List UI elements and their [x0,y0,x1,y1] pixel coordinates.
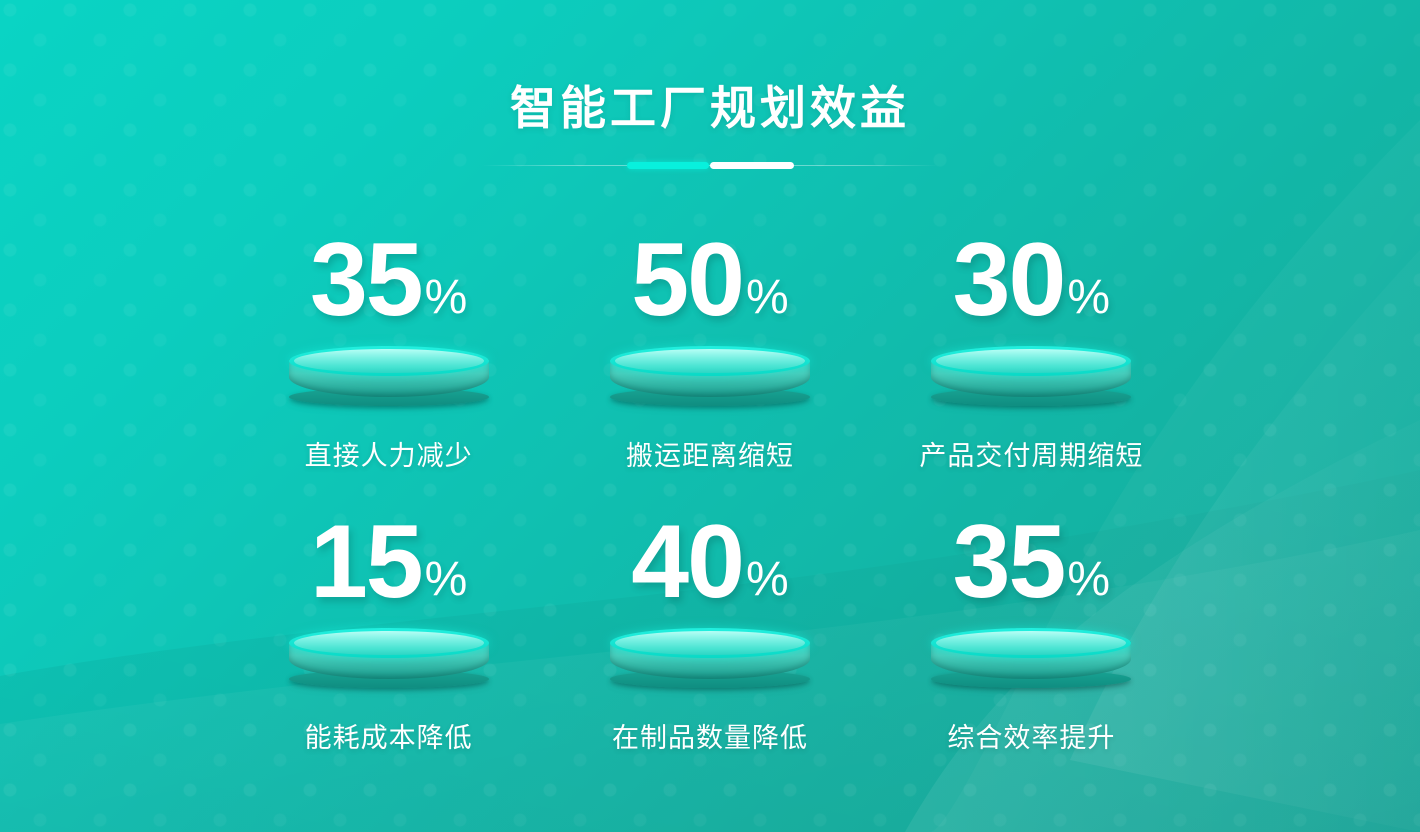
stat-unit: % [425,556,468,604]
stat-number: 30 [953,228,1065,332]
stat-card[interactable]: 35 % 综合效率提升 [871,510,1192,792]
stat-unit: % [1067,556,1110,604]
stat-label: 产品交付周期缩短 [919,434,1143,473]
stat-number: 35 [953,510,1065,614]
stat-value: 30 % [953,228,1110,340]
stat-card[interactable]: 15 % 能耗成本降低 [228,510,549,792]
stat-value: 50 % [631,228,788,340]
stat-number: 15 [310,510,422,614]
title-divider [482,161,938,171]
stat-card[interactable]: 50 % 搬运距离缩短 [549,228,870,510]
pedestal-top-face [294,349,484,373]
stat-label: 在制品数量降低 [612,716,808,755]
stat-number: 40 [631,510,743,614]
pedestal-top-face [936,631,1126,655]
stat-unit: % [746,556,789,604]
stat-unit: % [746,274,789,322]
pedestal-top-face [615,349,805,373]
stat-label: 能耗成本降低 [305,716,473,755]
stat-number: 35 [310,228,422,332]
pedestal-icon [289,628,489,688]
stat-number: 50 [631,228,743,332]
pedestal-top-face [615,631,805,655]
infographic-canvas: 智能工厂规划效益 35 % 直接人力减少 5 [0,0,1420,832]
stat-unit: % [1067,274,1110,322]
stat-card[interactable]: 30 % 产品交付周期缩短 [871,228,1192,510]
stat-label: 综合效率提升 [947,716,1115,755]
pedestal-icon [610,628,810,688]
pedestal-icon [289,346,489,406]
pedestal-icon [931,628,1131,688]
pedestal-icon [610,346,810,406]
stat-value: 35 % [310,228,467,340]
stat-card[interactable]: 40 % 在制品数量降低 [549,510,870,792]
page-title: 智能工厂规划效益 [0,82,1420,135]
stat-value: 15 % [310,510,467,622]
pedestal-icon [931,346,1131,406]
header: 智能工厂规划效益 [0,82,1420,171]
pedestal-top-face [294,631,484,655]
stat-value: 40 % [631,510,788,622]
stat-label: 搬运距离缩短 [626,434,794,473]
divider-white-segment [710,162,794,169]
stats-grid: 35 % 直接人力减少 50 % [228,228,1192,792]
stat-card[interactable]: 35 % 直接人力减少 [228,228,549,510]
divider-accent-segment [627,162,709,169]
pedestal-top-face [936,349,1126,373]
stat-value: 35 % [953,510,1110,622]
stat-label: 直接人力减少 [305,434,473,473]
stat-unit: % [425,274,468,322]
